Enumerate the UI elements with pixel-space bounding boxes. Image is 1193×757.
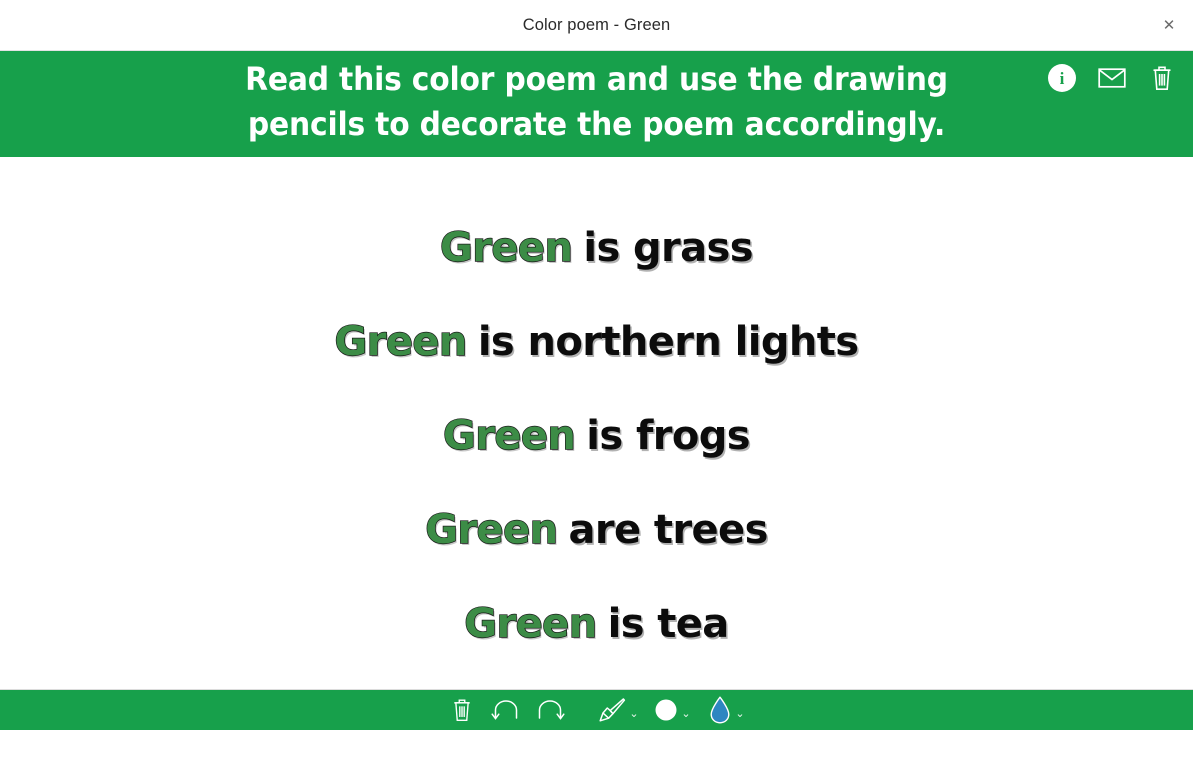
redo-button[interactable] <box>528 690 572 731</box>
poem-line: Green is tea <box>464 577 728 671</box>
poem-line: Green is northern lights <box>335 295 859 389</box>
banner-actions: i <box>1045 61 1179 95</box>
circle-icon <box>654 698 678 722</box>
poem-keyword: Green <box>464 601 596 647</box>
title-bar: Color poem - Green ✕ <box>0 0 1193 51</box>
brush-tool-button[interactable]: ⌄ <box>592 690 646 731</box>
poem-rest: is northern lights <box>478 319 859 365</box>
trash-icon <box>451 697 473 723</box>
chevron-down-icon[interactable]: ⌄ <box>735 709 744 720</box>
footer-area <box>0 730 1193 757</box>
delete-button[interactable] <box>1145 61 1179 95</box>
poem-line: Green are trees <box>425 483 768 577</box>
envelope-icon <box>1098 67 1126 89</box>
color-picker-button[interactable]: ⌄ <box>700 690 754 731</box>
poem-rest: is tea <box>608 601 729 647</box>
poem-keyword: Green <box>425 507 557 553</box>
poem-rest: are trees <box>569 507 768 553</box>
instruction-banner: Read this color poem and use the drawing… <box>0 51 1193 157</box>
brush-size-button[interactable]: ⌄ <box>646 690 700 731</box>
poem-rest: is frogs <box>586 413 750 459</box>
info-icon: i <box>1048 64 1076 92</box>
poem-canvas[interactable]: Green is grass Green is northern lights … <box>0 157 1193 689</box>
poem-line: Green is frogs <box>443 389 750 483</box>
drawing-toolbar: ⌄ ⌄ ⌄ <box>0 689 1193 730</box>
poem-line: Green is grass <box>440 201 753 295</box>
poem-keyword: Green <box>443 413 575 459</box>
undo-icon <box>491 697 521 723</box>
close-icon[interactable]: ✕ <box>1153 9 1185 41</box>
trash-icon <box>1150 64 1174 92</box>
redo-icon <box>535 697 565 723</box>
info-button[interactable]: i <box>1045 61 1079 95</box>
chevron-down-icon[interactable]: ⌄ <box>681 709 690 720</box>
instruction-text: Read this color poem and use the drawing… <box>200 57 993 148</box>
undo-button[interactable] <box>484 690 528 731</box>
clear-canvas-button[interactable] <box>440 690 484 731</box>
window-title: Color poem - Green <box>523 16 671 35</box>
app-window: Color poem - Green ✕ Read this color poe… <box>0 0 1193 757</box>
paintbrush-icon <box>598 696 626 724</box>
poem-rest: is grass <box>583 225 753 271</box>
poem-keyword: Green <box>335 319 467 365</box>
mail-button[interactable] <box>1095 61 1129 95</box>
poem-keyword: Green <box>440 225 572 271</box>
chevron-down-icon[interactable]: ⌄ <box>629 709 638 720</box>
water-drop-icon <box>708 695 732 725</box>
